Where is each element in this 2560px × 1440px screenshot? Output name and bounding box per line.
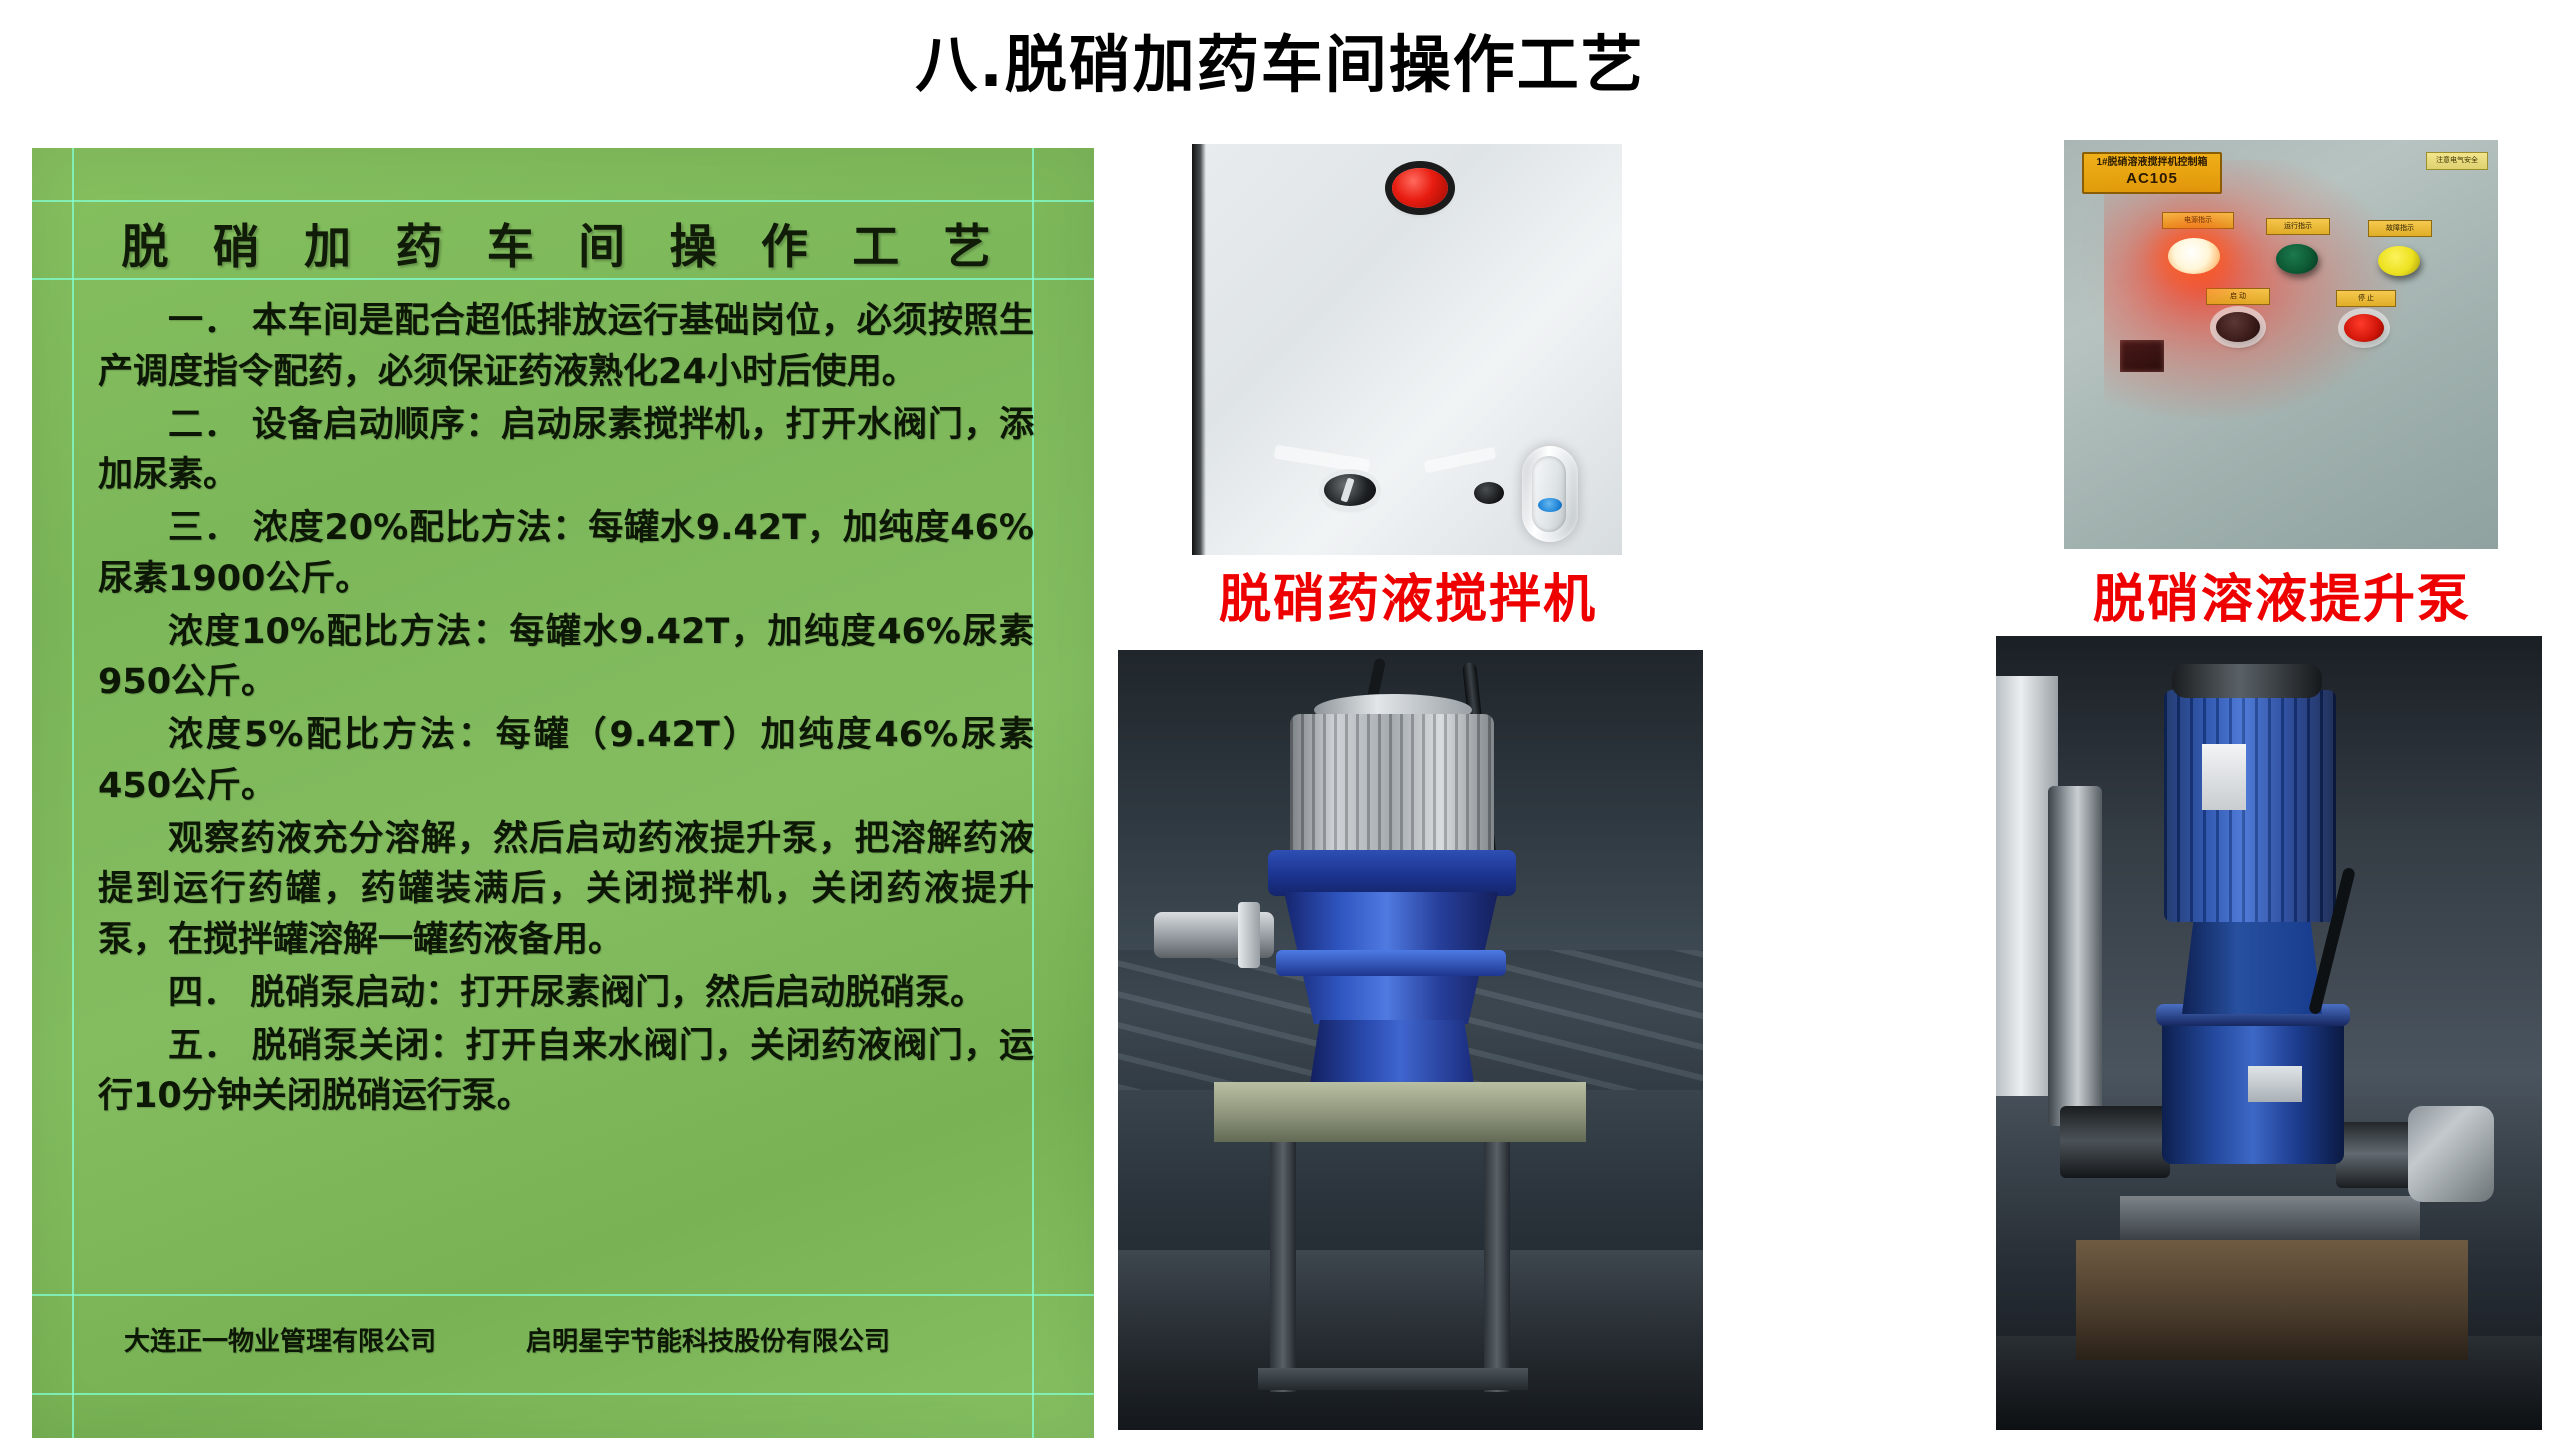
board-paragraph: 浓度5%配比方法：每罐（9.42T）加纯度46%尿素450公斤。 bbox=[98, 710, 1034, 812]
emergency-socket bbox=[2120, 340, 2164, 372]
concrete-pad bbox=[2076, 1240, 2468, 1360]
instruction-board-photo: 脱 硝 加 药 车 间 操 作 工 艺 一． 本车间是配合超低排放运行基础岗位，… bbox=[32, 148, 1094, 1438]
support-frame-bottom bbox=[1258, 1368, 1528, 1390]
pump-nameplate bbox=[2248, 1066, 2302, 1102]
board-paragraph: 浓度10%配比方法：每罐水9.42T，加纯度46%尿素950公斤。 bbox=[98, 607, 1034, 709]
label-fault-indicator: 故障指示 bbox=[2368, 220, 2432, 237]
stop-push-button bbox=[2344, 314, 2384, 342]
power-indicator-lamp-icon bbox=[2168, 238, 2220, 274]
pipe-flange bbox=[1238, 902, 1260, 968]
photo-pump-control-panel: 1#脱硝溶液搅拌机控制箱 AC105 注意电气安全 电源指示 运行指示 故障指示… bbox=[2064, 140, 2498, 549]
label-power-indicator: 电源指示 bbox=[2162, 212, 2234, 229]
pump-base bbox=[2120, 1196, 2420, 1240]
pump-lantern-piece bbox=[2182, 922, 2322, 1014]
vertical-pipe bbox=[2048, 786, 2102, 1126]
support-frame-left bbox=[1270, 1142, 1296, 1392]
suction-flange bbox=[2060, 1106, 2170, 1178]
board-footer-company-left: 大连正一物业管理有限公司 bbox=[124, 1321, 436, 1358]
red-indicator-lamp-icon bbox=[1392, 168, 1448, 208]
caption-mixer: 脱硝药液搅拌机 bbox=[1148, 557, 1668, 632]
floor-area bbox=[1118, 1250, 1703, 1430]
cabinet-edge bbox=[1192, 144, 1206, 555]
cabinet-id-tag: 1#脱硝溶液搅拌机控制箱 AC105 bbox=[2082, 152, 2222, 194]
board-paragraph: 观察药液充分溶解，然后启动药液提升泵，把溶解药液提到运行药罐，药罐装满后，关闭搅… bbox=[98, 814, 1034, 966]
pipe-elbow bbox=[2408, 1106, 2494, 1202]
board-heading: 脱 硝 加 药 车 间 操 作 工 艺 bbox=[84, 208, 1042, 277]
start-push-button bbox=[2216, 312, 2260, 342]
mounting-plate bbox=[1214, 1082, 1586, 1142]
board-paragraph: 三． 浓度20%配比方法：每罐水9.42T，加纯度46%尿素1900公斤。 bbox=[98, 503, 1034, 605]
label-stop-button: 停 止 bbox=[2336, 290, 2396, 307]
cabinet-tag-code: AC105 bbox=[2084, 170, 2220, 189]
photo-vertical-pump bbox=[1996, 636, 2542, 1430]
motor-nameplate bbox=[2202, 744, 2246, 810]
panel-scuff bbox=[1424, 447, 1497, 474]
cabinet-lock-hole bbox=[1474, 482, 1504, 504]
board-paragraph: 二． 设备启动顺序：启动尿素搅拌机，打开水阀门，添加尿素。 bbox=[98, 400, 1034, 502]
board-footer-company-right: 启明星宇节能科技股份有限公司 bbox=[526, 1321, 890, 1358]
board-footer: 大连正一物业管理有限公司 启明星宇节能科技股份有限公司 bbox=[124, 1321, 1002, 1358]
cabinet-tag-title: 1#脱硝溶液搅拌机控制箱 bbox=[2084, 157, 2220, 170]
page-title: 八.脱硝加药车间操作工艺 bbox=[0, 14, 2560, 104]
running-indicator-lamp-icon bbox=[2276, 244, 2318, 274]
gearbox-band bbox=[1276, 950, 1506, 976]
board-body: 一． 本车间是配合超低排放运行基础岗位，必须按照生产调度指令配药，必须保证药液熟… bbox=[98, 296, 1034, 1124]
board-paragraph: 五． 脱硝泵关闭：打开自来水阀门，关闭药液阀门，运行10分钟关闭脱硝运行泵。 bbox=[98, 1021, 1034, 1123]
rocker-switch-knob bbox=[1532, 456, 1566, 532]
motor-cooling-fins bbox=[1290, 714, 1494, 854]
motor-cooling-fins bbox=[2164, 690, 2336, 922]
guide-line-vertical-left bbox=[72, 148, 74, 1438]
support-frame-right bbox=[1484, 1142, 1510, 1392]
label-running-indicator: 运行指示 bbox=[2266, 218, 2330, 235]
instruction-board-content: 脱 硝 加 药 车 间 操 作 工 艺 一． 本车间是配合超低排放运行基础岗位，… bbox=[84, 148, 1042, 1438]
gearbox-flange bbox=[1268, 850, 1516, 896]
photo-mixer-motor bbox=[1118, 650, 1703, 1430]
warning-tag: 注意电气安全 bbox=[2426, 152, 2488, 170]
fault-indicator-lamp-icon bbox=[2378, 246, 2420, 276]
photo-mixer-control-panel bbox=[1192, 144, 1622, 555]
motor-fan-cover bbox=[2172, 664, 2322, 698]
caption-pump: 脱硝溶液提升泵 bbox=[2052, 557, 2512, 632]
gearbox-base bbox=[1310, 1020, 1474, 1084]
board-paragraph: 四． 脱硝泵启动：打开尿素阀门，然后启动脱硝泵。 bbox=[98, 968, 1034, 1019]
blue-switch-dot-icon bbox=[1538, 498, 1562, 512]
label-start-button: 启 动 bbox=[2206, 288, 2270, 305]
board-paragraph: 一． 本车间是配合超低排放运行基础岗位，必须按照生产调度指令配药，必须保证药液熟… bbox=[98, 296, 1034, 398]
panel-scuff bbox=[1273, 445, 1370, 474]
rocker-switch bbox=[1522, 446, 1578, 542]
